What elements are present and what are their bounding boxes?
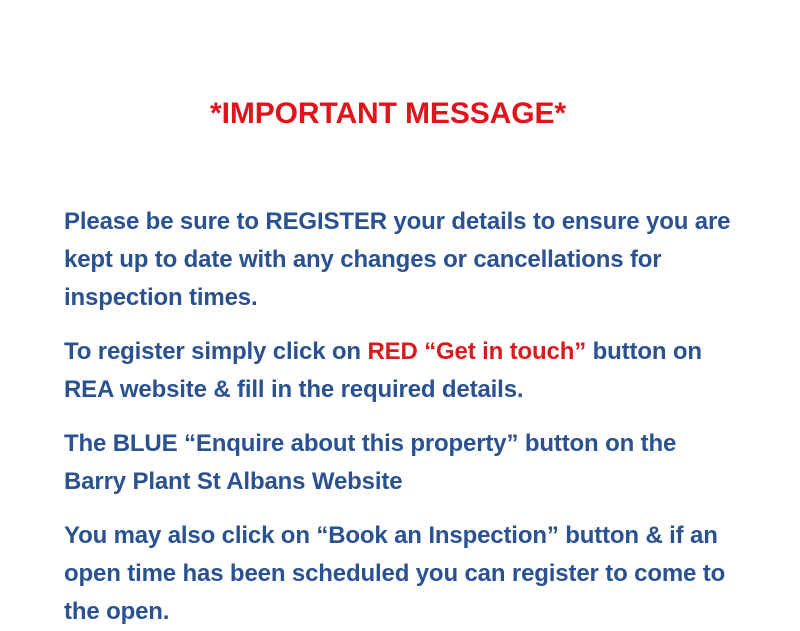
paragraph-rea-get-in-touch: To register simply click on RED “Get in … [64, 333, 736, 409]
paragraph-book-an-inspection: You may also click on “Book an Inspectio… [64, 517, 736, 631]
paragraph-register-details: Please be sure to REGISTER your details … [64, 203, 736, 317]
paragraph-barry-plant-enquire: The BLUE “Enquire about this property” b… [64, 425, 736, 501]
text-run: To register simply click on [64, 338, 367, 365]
title-block: *IMPORTANT MESSAGE* [60, 96, 716, 132]
text-run: The BLUE “Enquire about this property” b… [64, 430, 676, 495]
slide-canvas: *IMPORTANT MESSAGE* Please be sure to RE… [0, 0, 800, 600]
text-run: You may also click on “Book an Inspectio… [64, 522, 725, 625]
message-body: Please be sure to REGISTER your details … [64, 203, 736, 631]
page-title: *IMPORTANT MESSAGE* [210, 96, 566, 132]
text-run-red-get-in-touch: RED “Get in touch” [367, 338, 586, 365]
text-run: Please be sure to REGISTER your details … [64, 208, 730, 311]
